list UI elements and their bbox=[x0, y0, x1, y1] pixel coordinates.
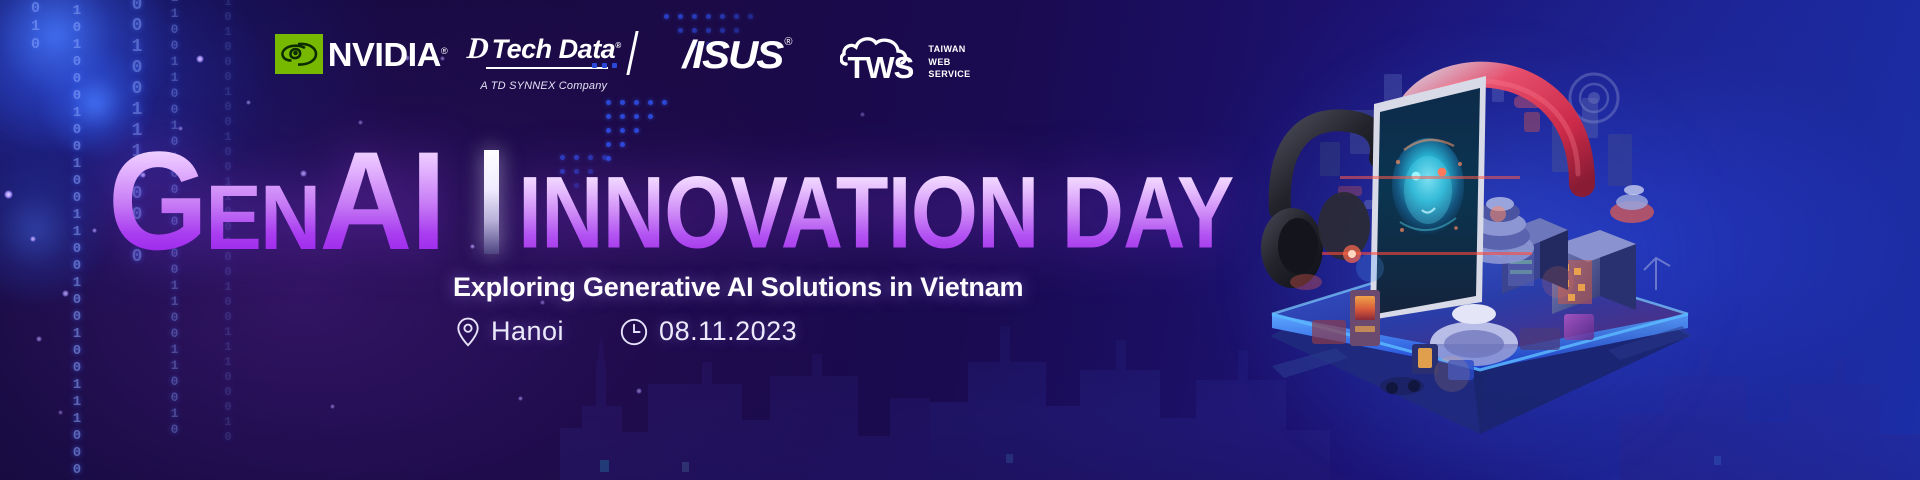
nvidia-trademark: ® bbox=[441, 46, 447, 56]
logo-tws[interactable]: TWS TAIWAN WEB SERVICE bbox=[838, 34, 970, 84]
event-meta-row: Hanoi 08.11.2023 bbox=[456, 316, 1313, 347]
binary-column: 1101000100100110010010011100010 bbox=[70, 0, 84, 480]
logo-techdata[interactable]: D Tech Data® A TD SYNNEX Company bbox=[467, 34, 621, 92]
techdata-wordmark: Tech Data® bbox=[492, 36, 621, 63]
techdata-monogram: D bbox=[466, 34, 490, 64]
event-location: Hanoi bbox=[456, 316, 564, 347]
nvidia-wordmark: NVIDIA® bbox=[328, 38, 448, 71]
title-divider-bar bbox=[484, 150, 499, 254]
tws-tagline-line: SERVICE bbox=[928, 69, 970, 80]
event-title: INNOVATION DAY bbox=[518, 171, 1233, 258]
genai-innovation-day-banner: 0010 1101000100100110010010011100010 100… bbox=[0, 0, 1920, 480]
techdata-trademark: ® bbox=[615, 41, 620, 50]
event-date: 08.11.2023 bbox=[620, 316, 797, 347]
asus-wordmark: /ISUS bbox=[683, 36, 783, 75]
tws-tagline-line: WEB bbox=[928, 57, 970, 68]
isometric-ai-tech-city-illustration bbox=[1252, 14, 1712, 466]
tws-wordmark: TWS bbox=[838, 52, 922, 83]
nvidia-wordmark-text: NVIDIA bbox=[328, 36, 441, 73]
logo-asus[interactable]: /ISUS ® bbox=[683, 34, 793, 76]
tws-tagline-line: TAIWAN bbox=[928, 44, 970, 55]
headline-block: GENAI INNOVATION DAY Exploring Generativ… bbox=[108, 142, 1313, 347]
event-subtitle: Exploring Generative AI Solutions in Vie… bbox=[453, 272, 1313, 303]
nvidia-eye-icon bbox=[275, 34, 323, 74]
techdata-slash-accent bbox=[626, 31, 638, 75]
techdata-underline bbox=[486, 67, 608, 69]
clock-icon bbox=[620, 318, 648, 346]
brand-genai-ai: AI bbox=[319, 122, 444, 279]
brand-genai: GENAI bbox=[108, 142, 444, 260]
event-location-text: Hanoi bbox=[491, 316, 564, 347]
techdata-wordmark-text: Tech Data bbox=[492, 34, 616, 64]
event-date-text: 08.11.2023 bbox=[659, 316, 797, 347]
techdata-dot-accent bbox=[592, 63, 617, 68]
logo-nvidia[interactable]: NVIDIA® bbox=[275, 34, 445, 74]
techdata-tagline: A TD SYNNEX Company bbox=[480, 80, 607, 92]
tws-tagline: TAIWAN WEB SERVICE bbox=[928, 44, 970, 80]
brand-genai-g: G bbox=[108, 122, 205, 279]
title-row: GENAI INNOVATION DAY bbox=[108, 142, 1313, 260]
partner-logo-bar: NVIDIA® D Tech Data® A TD SYNNEX Company… bbox=[275, 34, 971, 96]
brand-genai-en: EN bbox=[205, 167, 319, 269]
asus-trademark: ® bbox=[784, 36, 792, 48]
binary-column: 0010 bbox=[28, 0, 43, 54]
location-pin-icon bbox=[456, 317, 480, 347]
